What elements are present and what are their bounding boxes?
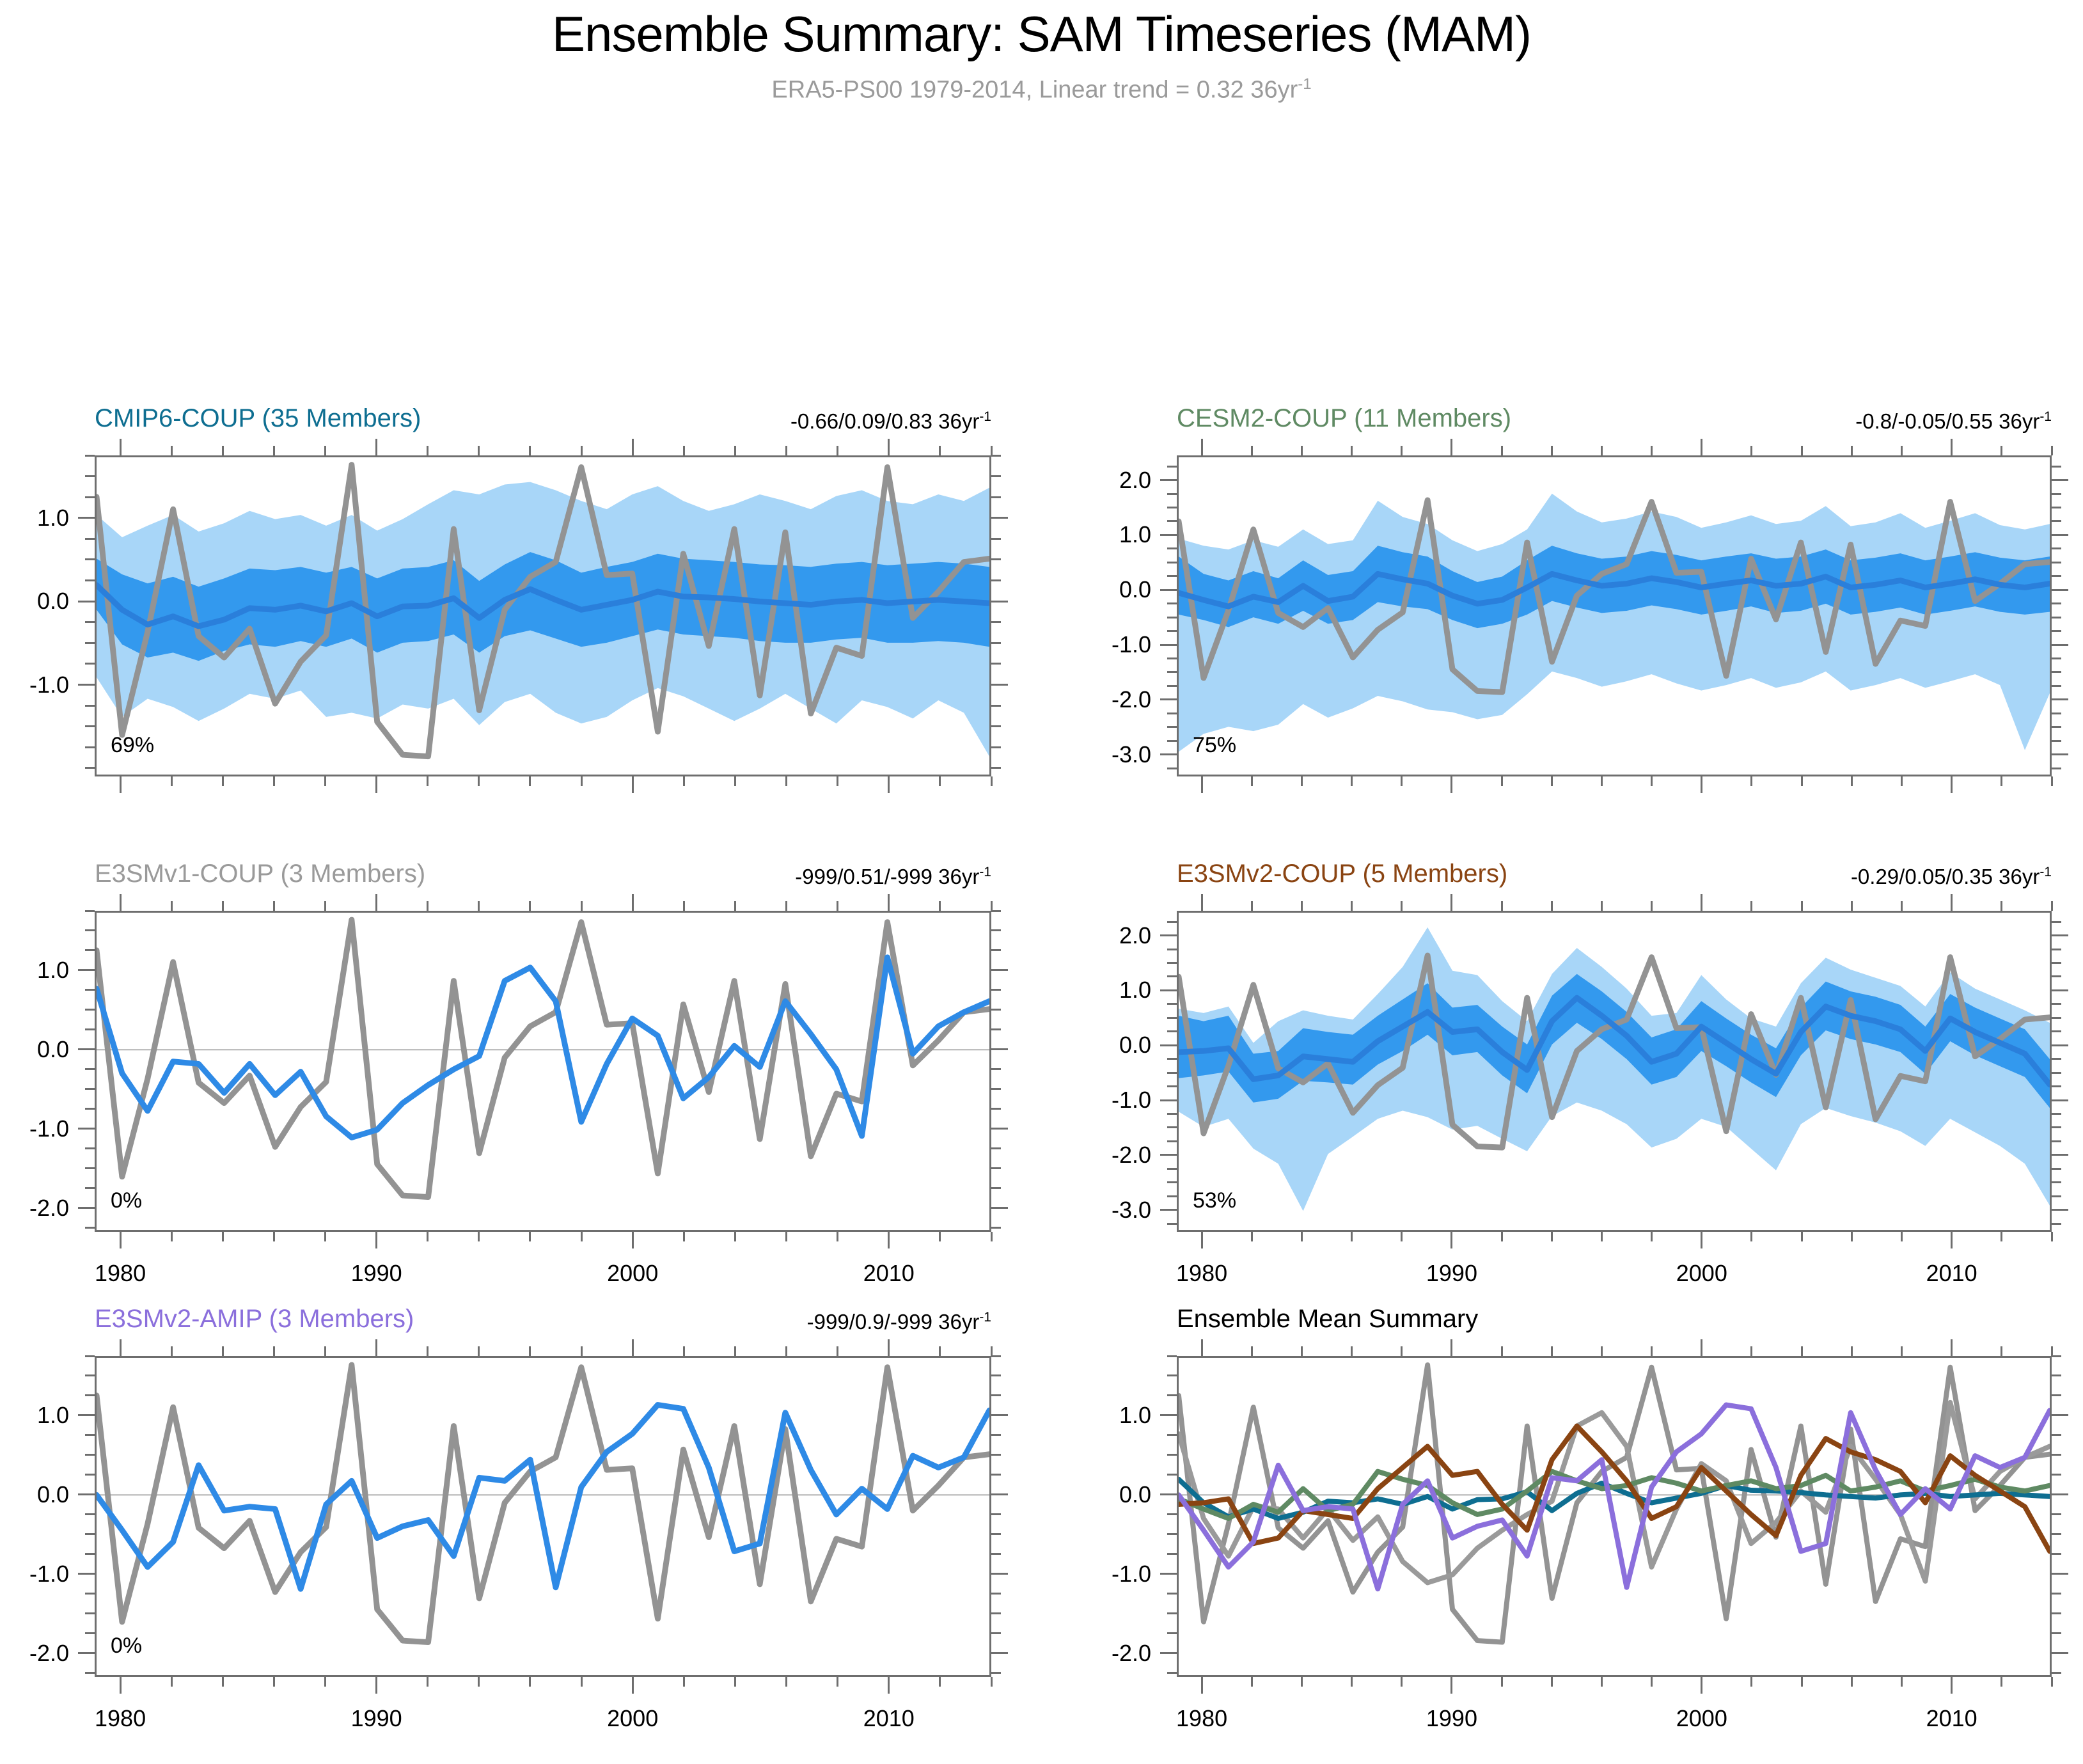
x-tick-minor-top — [1801, 1346, 1803, 1356]
x-tick-major — [888, 1232, 890, 1248]
x-tick-major-top — [632, 439, 634, 455]
y-tick-major — [78, 1493, 95, 1495]
y-tick-major-right — [991, 1128, 1008, 1130]
x-tick-minor — [1401, 1677, 1403, 1687]
y-tick-minor-right — [2052, 1058, 2061, 1060]
x-tick-major-top — [888, 1339, 890, 1356]
x-tick-minor — [785, 1677, 787, 1687]
y-tick-label: -2.0 — [0, 1195, 69, 1222]
x-tick-minor-top — [1501, 446, 1503, 455]
y-tick-minor-right — [991, 1227, 1001, 1229]
y-tick-minor-right — [991, 1672, 1001, 1674]
x-tick-minor — [1651, 1232, 1653, 1241]
y-tick-major — [1160, 1652, 1177, 1654]
x-tick-label: 2000 — [1676, 1705, 1727, 1732]
x-tick-minor — [1851, 1677, 1853, 1687]
y-tick-minor — [1167, 602, 1177, 604]
y-tick-minor — [85, 1028, 95, 1030]
y-tick-minor-right — [2052, 602, 2061, 604]
x-tick-minor-top — [1301, 901, 1303, 911]
figure-title-text: Ensemble Summary: SAM Timeseries (MAM) — [552, 6, 1531, 62]
y-tick-label: -1.0 — [0, 1115, 69, 1142]
y-tick-minor — [1167, 1454, 1177, 1456]
y-tick-major — [1160, 989, 1177, 991]
y-tick-minor — [1167, 520, 1177, 522]
y-tick-minor — [1167, 1140, 1177, 1142]
series-canvas-e3smv1-coup — [97, 913, 989, 1230]
y-tick-label: 0.0 — [0, 1036, 69, 1063]
x-tick-minor — [1251, 776, 1253, 786]
cesm2-mean-line-summary — [1179, 1472, 2050, 1518]
y-tick-major-right — [2052, 1414, 2068, 1416]
y-tick-minor — [1167, 713, 1177, 714]
x-tick-minor — [273, 776, 275, 786]
y-tick-minor — [1167, 1593, 1177, 1595]
y-tick-minor — [85, 1474, 95, 1476]
y-tick-minor — [1167, 1434, 1177, 1436]
x-tick-major — [1951, 1232, 1953, 1248]
y-tick-minor — [1167, 685, 1177, 687]
y-tick-minor — [85, 475, 95, 477]
x-tick-minor — [2000, 1232, 2002, 1241]
y-tick-major-right — [2052, 534, 2068, 536]
x-tick-minor — [1851, 1232, 1853, 1241]
plot-area-e3smv2-coup: 53% — [1177, 911, 2052, 1232]
x-tick-minor-top — [171, 1346, 173, 1356]
y-tick-minor-right — [991, 1028, 1001, 1030]
x-tick-label: 2010 — [863, 1260, 915, 1287]
y-tick-minor-right — [991, 1355, 1001, 1357]
y-tick-major — [1160, 1154, 1177, 1156]
y-tick-minor — [1167, 1085, 1177, 1087]
y-tick-minor — [85, 989, 95, 991]
y-tick-major-right — [2052, 698, 2068, 700]
x-tick-minor-top — [1251, 1346, 1253, 1356]
agreement-percent-cmip6-coup: 69% — [111, 733, 154, 758]
y-tick-label: -3.0 — [1049, 741, 1151, 768]
x-tick-minor — [529, 1232, 531, 1241]
y-tick-major — [78, 1414, 95, 1416]
x-tick-minor-top — [2051, 1346, 2053, 1356]
x-tick-major — [1701, 1232, 1702, 1248]
y-tick-minor-right — [991, 579, 1001, 581]
x-tick-label: 2000 — [607, 1705, 658, 1732]
y-tick-minor — [85, 1108, 95, 1110]
y-tick-major-right — [991, 1414, 1008, 1416]
series-canvas-ensemble-mean-summary — [1179, 1358, 2050, 1675]
x-tick-minor — [324, 776, 326, 786]
y-tick-minor-right — [991, 1474, 1001, 1476]
y-tick-minor — [1167, 1513, 1177, 1515]
x-tick-minor — [427, 1232, 428, 1241]
x-tick-major-top — [1701, 439, 1702, 455]
x-tick-major-top — [1201, 439, 1203, 455]
plot-area-ensemble-mean-summary — [1177, 1356, 2052, 1677]
x-tick-minor-top — [1601, 446, 1603, 455]
y-tick-minor — [85, 579, 95, 581]
y-tick-major-right — [991, 601, 1008, 602]
x-tick-minor-top — [991, 901, 993, 911]
y-tick-minor-right — [991, 1434, 1001, 1436]
y-tick-minor-right — [2052, 962, 2061, 964]
x-tick-minor-top — [991, 1346, 993, 1356]
ensemble-mean-line-e3smv2-coup — [1179, 998, 2050, 1085]
y-tick-major — [78, 1128, 95, 1130]
x-tick-major-top — [888, 439, 890, 455]
x-tick-major-top — [632, 1339, 634, 1356]
x-tick-major-top — [1701, 1339, 1702, 1356]
x-tick-label: 1980 — [95, 1260, 146, 1287]
y-tick-major-right — [2052, 1209, 2068, 1211]
band-5-95-cesm2-coup — [1179, 494, 2050, 752]
x-tick-minor-top — [1901, 1346, 1903, 1356]
x-tick-minor — [529, 776, 531, 786]
x-tick-minor-top — [1401, 446, 1403, 455]
y-tick-minor — [85, 1227, 95, 1229]
y-tick-minor-right — [2052, 547, 2061, 549]
y-tick-minor — [1167, 1113, 1177, 1115]
y-tick-minor — [1167, 1355, 1177, 1357]
y-tick-minor — [1167, 949, 1177, 950]
y-tick-major-right — [2052, 934, 2068, 936]
x-tick-major-top — [1201, 894, 1203, 911]
y-tick-minor-right — [2052, 658, 2061, 659]
y-tick-minor-right — [991, 538, 1001, 540]
y-tick-major-right — [991, 1207, 1008, 1209]
x-tick-minor-top — [2051, 446, 2053, 455]
y-tick-label: 0.0 — [1049, 576, 1151, 603]
x-tick-minor — [171, 1232, 173, 1241]
y-tick-minor — [85, 1009, 95, 1011]
x-tick-minor — [2000, 776, 2002, 786]
x-tick-minor-top — [2000, 1346, 2002, 1356]
panel-ensemble-mean-summary: Ensemble Mean Summary1.00.0-1.0-2.019801… — [0, 0, 2083, 1764]
y-tick-minor-right — [991, 1394, 1001, 1396]
x-tick-minor — [991, 1232, 993, 1241]
x-tick-minor-top — [683, 1346, 685, 1356]
y-tick-minor-right — [2052, 1168, 2061, 1170]
y-tick-minor — [85, 1533, 95, 1535]
x-tick-minor-top — [939, 446, 941, 455]
y-tick-minor — [1167, 1168, 1177, 1170]
y-tick-minor-right — [2052, 575, 2061, 577]
panel-e3smv2-amip: E3SMv2-AMIP (3 Members)-999/0.9/-999 36y… — [0, 0, 2083, 1764]
y-tick-major — [1160, 479, 1177, 481]
y-tick-minor-right — [2052, 1454, 2061, 1456]
x-tick-minor — [1351, 1677, 1353, 1687]
x-tick-minor-top — [324, 901, 326, 911]
x-tick-major-top — [1951, 439, 1953, 455]
y-tick-minor-right — [2052, 768, 2061, 769]
y-tick-minor — [1167, 493, 1177, 495]
y-tick-label: -2.0 — [0, 1640, 69, 1667]
y-tick-minor-right — [2052, 1195, 2061, 1197]
y-tick-minor — [1167, 1030, 1177, 1032]
y-tick-minor-right — [991, 725, 1001, 727]
y-tick-minor-right — [2052, 671, 2061, 673]
y-tick-minor — [85, 1088, 95, 1090]
x-tick-minor-top — [734, 446, 736, 455]
x-tick-label: 1990 — [351, 1705, 402, 1732]
y-tick-minor-right — [991, 1088, 1001, 1090]
y-tick-minor-right — [2052, 1474, 2061, 1476]
y-tick-major — [1160, 1493, 1177, 1495]
x-tick-minor — [1601, 1677, 1603, 1687]
x-tick-minor — [478, 1232, 480, 1241]
x-tick-minor — [1401, 776, 1403, 786]
y-tick-label: -1.0 — [1049, 1087, 1151, 1114]
y-tick-minor — [85, 1187, 95, 1189]
x-tick-minor-top — [1601, 901, 1603, 911]
plot-area-cesm2-coup: 75% — [1177, 455, 2052, 776]
x-tick-minor — [1301, 776, 1303, 786]
x-tick-minor-top — [991, 446, 993, 455]
y-tick-label: -2.0 — [1049, 1142, 1151, 1169]
x-tick-minor — [1351, 1232, 1353, 1241]
x-tick-minor — [478, 776, 480, 786]
x-tick-minor — [1901, 776, 1903, 786]
y-tick-minor-right — [991, 767, 1001, 769]
x-tick-major — [375, 776, 377, 793]
obs-line-e3smv2-amip — [97, 1365, 989, 1642]
y-tick-minor-right — [2052, 1355, 2061, 1357]
x-tick-minor — [1651, 1677, 1653, 1687]
x-tick-minor — [1750, 776, 1752, 786]
x-tick-minor — [785, 1232, 787, 1241]
ensemble-mean-line-e3smv2-amip — [97, 1405, 989, 1589]
x-tick-minor-top — [273, 901, 275, 911]
x-tick-major-top — [1201, 1339, 1203, 1356]
x-tick-minor — [1551, 776, 1553, 786]
x-tick-minor — [991, 776, 993, 786]
x-tick-major — [1201, 1232, 1203, 1248]
x-tick-minor-top — [581, 1346, 583, 1356]
y-tick-minor-right — [2052, 1513, 2061, 1515]
x-tick-minor-top — [1901, 901, 1903, 911]
y-tick-minor — [85, 767, 95, 769]
y-tick-minor — [1167, 617, 1177, 618]
y-tick-minor — [1167, 1017, 1177, 1019]
y-tick-minor — [1167, 1394, 1177, 1396]
y-tick-major-right — [2052, 644, 2068, 646]
y-tick-label: 1.0 — [0, 957, 69, 984]
x-tick-minor — [1551, 1232, 1553, 1241]
x-tick-minor-top — [478, 901, 480, 911]
y-tick-major — [1160, 1209, 1177, 1211]
y-tick-minor — [1167, 921, 1177, 923]
y-tick-minor — [1167, 466, 1177, 468]
x-tick-minor-top — [1401, 901, 1403, 911]
x-tick-minor — [1251, 1677, 1253, 1687]
x-tick-minor-top — [1851, 901, 1853, 911]
y-tick-label: -1.0 — [0, 672, 69, 698]
x-tick-major — [1201, 1677, 1203, 1694]
y-tick-major — [1160, 1099, 1177, 1101]
x-tick-minor-top — [1651, 1346, 1653, 1356]
y-tick-minor-right — [2052, 1434, 2061, 1436]
x-tick-major — [1201, 776, 1203, 793]
x-tick-major-top — [120, 1339, 122, 1356]
x-tick-major-top — [1450, 439, 1452, 455]
y-tick-minor-right — [991, 1553, 1001, 1555]
y-tick-minor — [85, 1167, 95, 1169]
y-tick-minor — [85, 455, 95, 457]
x-tick-label: 2000 — [607, 1260, 658, 1287]
x-tick-minor-top — [1501, 1346, 1503, 1356]
y-tick-minor — [1167, 562, 1177, 563]
panel-cmip6-coup: CMIP6-COUP (35 Members)-0.66/0.09/0.83 3… — [0, 0, 2083, 1764]
y-tick-minor-right — [991, 621, 1001, 623]
band-25-75-cesm2-coup — [1179, 546, 2050, 628]
x-tick-minor — [734, 1232, 736, 1241]
obs-line-e3smv1-coup — [97, 920, 989, 1197]
x-tick-minor-top — [1551, 446, 1553, 455]
x-tick-minor — [939, 776, 941, 786]
band-5-95-e3smv2-coup — [1179, 927, 2050, 1211]
y-tick-label: -3.0 — [1049, 1197, 1151, 1224]
plot-area-cmip6-coup: 69% — [95, 455, 991, 776]
panel-title-cmip6-coup: CMIP6-COUP (35 Members) — [95, 404, 421, 433]
x-tick-minor-top — [1551, 901, 1553, 911]
y-tick-minor-right — [2052, 1113, 2061, 1115]
x-tick-major — [375, 1677, 377, 1694]
panel-trend-cesm2-coup: -0.8/-0.05/0.55 36yr-1 — [1604, 409, 2052, 434]
y-tick-minor-right — [991, 929, 1001, 931]
x-tick-minor — [273, 1232, 275, 1241]
x-tick-minor-top — [1651, 901, 1653, 911]
series-canvas-e3smv2-amip — [97, 1358, 989, 1675]
x-tick-minor-top — [1601, 1346, 1603, 1356]
y-tick-major — [1160, 1573, 1177, 1575]
x-tick-major — [1450, 1232, 1452, 1248]
y-tick-label: 1.0 — [0, 1402, 69, 1429]
x-tick-major — [1701, 1677, 1702, 1694]
y-tick-minor-right — [991, 1533, 1001, 1535]
x-tick-minor — [1601, 776, 1603, 786]
y-tick-major — [78, 1652, 95, 1654]
x-tick-label: 2000 — [1676, 1260, 1727, 1287]
x-tick-minor-top — [2051, 901, 2053, 911]
x-tick-minor — [171, 1677, 173, 1687]
x-tick-major — [1450, 776, 1452, 793]
x-tick-minor-top — [785, 901, 787, 911]
ensemble-mean-line-cmip6-coup — [97, 585, 989, 626]
x-tick-minor — [683, 1677, 685, 1687]
y-tick-minor — [85, 1147, 95, 1149]
x-tick-major-top — [375, 1339, 377, 1356]
agreement-percent-e3smv2-amip: 0% — [111, 1634, 142, 1658]
y-tick-minor-right — [991, 1374, 1001, 1376]
x-tick-minor — [939, 1677, 941, 1687]
y-tick-minor-right — [2052, 1017, 2061, 1019]
x-tick-major-top — [375, 894, 377, 911]
y-tick-minor-right — [2052, 507, 2061, 508]
x-tick-minor-top — [1801, 446, 1803, 455]
y-tick-minor — [85, 949, 95, 951]
x-tick-minor-top — [324, 1346, 326, 1356]
y-tick-minor — [85, 725, 95, 727]
x-tick-minor-top — [222, 901, 224, 911]
y-tick-minor — [85, 1355, 95, 1357]
y-tick-minor-right — [991, 1612, 1001, 1614]
x-tick-minor — [1501, 776, 1503, 786]
y-tick-label: -2.0 — [1049, 1640, 1151, 1667]
y-tick-minor-right — [2052, 466, 2061, 468]
x-tick-minor — [1401, 1232, 1403, 1241]
y-tick-minor-right — [2052, 713, 2061, 714]
y-tick-minor — [1167, 575, 1177, 577]
x-tick-minor — [1601, 1232, 1603, 1241]
y-tick-minor-right — [2052, 1140, 2061, 1142]
y-tick-label: 2.0 — [1049, 467, 1151, 494]
y-tick-minor — [1167, 1195, 1177, 1197]
x-tick-minor — [2000, 1677, 2002, 1687]
y-tick-minor-right — [2052, 1003, 2061, 1005]
band-25-75-e3smv2-coup — [1179, 974, 2050, 1108]
y-tick-major — [1160, 589, 1177, 591]
x-tick-minor-top — [222, 446, 224, 455]
y-tick-label: -1.0 — [0, 1561, 69, 1587]
panel-trend-e3smv1-coup: -999/0.51/-999 36yr-1 — [544, 865, 991, 889]
y-tick-minor-right — [991, 496, 1001, 498]
panel-trend-e3smv2-amip: -999/0.9/-999 36yr-1 — [544, 1310, 991, 1334]
x-tick-minor — [273, 1677, 275, 1687]
y-tick-minor — [85, 1612, 95, 1614]
y-tick-minor — [1167, 1374, 1177, 1376]
y-tick-minor — [1167, 740, 1177, 742]
y-tick-minor-right — [2052, 975, 2061, 977]
y-tick-label: 0.0 — [1049, 1481, 1151, 1508]
x-tick-label: 1980 — [95, 1705, 146, 1732]
x-tick-major-top — [632, 894, 634, 911]
x-tick-minor — [683, 776, 685, 786]
y-tick-minor-right — [2052, 1533, 2061, 1535]
y-tick-label: 1.0 — [1049, 1402, 1151, 1429]
x-tick-minor-top — [273, 1346, 275, 1356]
y-tick-major — [1160, 644, 1177, 646]
x-tick-major — [120, 1232, 122, 1248]
panel-cesm2-coup: CESM2-COUP (11 Members)-0.8/-0.05/0.55 3… — [0, 0, 2083, 1764]
x-tick-minor — [1551, 1677, 1553, 1687]
x-tick-minor-top — [529, 446, 531, 455]
y-tick-label: 2.0 — [1049, 922, 1151, 949]
y-tick-minor — [1167, 1126, 1177, 1128]
x-tick-minor — [1801, 1677, 1803, 1687]
obs-line-cesm2-coup — [1179, 500, 2050, 692]
x-tick-minor — [1801, 1232, 1803, 1241]
y-tick-major-right — [991, 1573, 1008, 1575]
x-tick-minor — [734, 1677, 736, 1687]
ensemble-mean-line-cesm2-coup — [1179, 574, 2050, 606]
x-tick-minor — [785, 776, 787, 786]
x-tick-minor — [2051, 1677, 2053, 1687]
panel-e3smv1-coup: E3SMv1-COUP (3 Members)-999/0.51/-999 36… — [0, 0, 2083, 1764]
x-tick-major — [120, 1677, 122, 1694]
x-tick-minor-top — [1401, 1346, 1403, 1356]
x-tick-minor — [581, 776, 583, 786]
x-tick-label: 1990 — [1426, 1705, 1477, 1732]
x-tick-minor — [991, 1677, 993, 1687]
x-tick-minor — [324, 1677, 326, 1687]
y-tick-minor-right — [991, 663, 1001, 665]
y-tick-minor-right — [991, 949, 1001, 951]
x-tick-minor-top — [837, 1346, 838, 1356]
x-tick-minor-top — [1301, 446, 1303, 455]
y-tick-minor-right — [2052, 617, 2061, 618]
x-tick-minor-top — [478, 446, 480, 455]
x-tick-minor-top — [222, 1346, 224, 1356]
panel-title-e3smv2-coup: E3SMv2-COUP (5 Members) — [1177, 860, 1507, 888]
